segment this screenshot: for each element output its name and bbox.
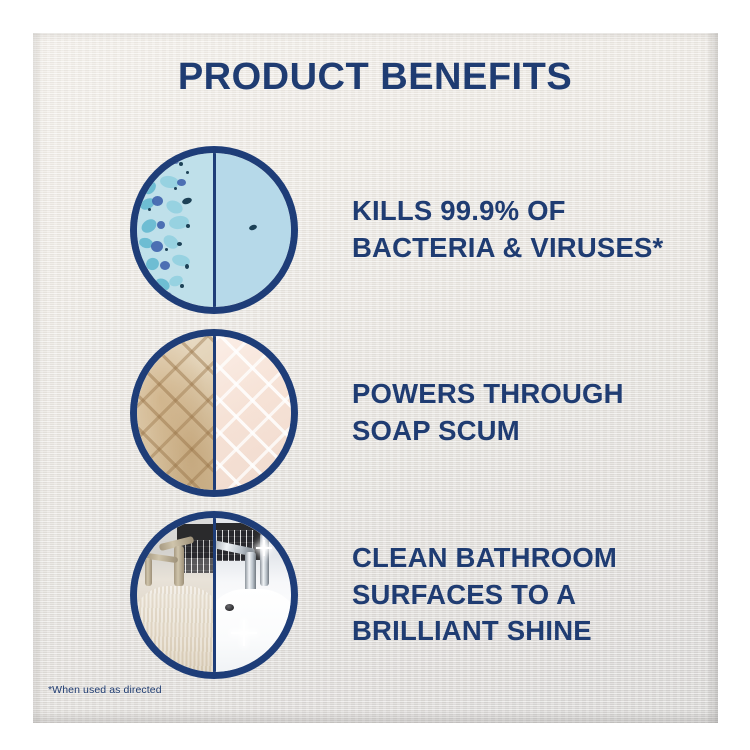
benefit-line: POWERS THROUGH xyxy=(352,376,692,413)
bacteria-circle-divider xyxy=(213,153,216,307)
benefit-line: SOAP SCUM xyxy=(352,413,692,450)
soap-scum-circle-inner xyxy=(137,336,291,490)
product-benefits-infographic: PRODUCT BENEFITS xyxy=(0,0,750,750)
benefit-text-brilliant-shine: CLEAN BATHROOM SURFACES TO A BRILLIANT S… xyxy=(352,511,692,679)
benefit-line: SURFACES TO A xyxy=(352,577,692,614)
page-title: PRODUCT BENEFITS xyxy=(0,56,750,99)
before-after-soap-scum-tile-circle xyxy=(130,329,298,497)
sink-after-half xyxy=(214,518,291,672)
bacteria-circle-inner xyxy=(137,153,291,307)
benefit-text-soap-scum: POWERS THROUGH SOAP SCUM xyxy=(352,329,692,497)
bacteria-after-half xyxy=(214,153,291,307)
sink-basin-clean xyxy=(214,589,291,672)
before-after-bathroom-sink-circle xyxy=(130,511,298,679)
sink-basin-dirty xyxy=(137,586,214,672)
benefit-line: CLEAN BATHROOM xyxy=(352,540,692,577)
sink-circle-inner xyxy=(137,518,291,672)
benefit-text-kills-bacteria: KILLS 99.9% OF BACTERIA & VIRUSES* xyxy=(352,146,692,314)
benefit-line: KILLS 99.9% OF xyxy=(352,193,692,230)
soap-scum-after-half xyxy=(214,336,291,490)
benefit-row-kills-bacteria: KILLS 99.9% OF BACTERIA & VIRUSES* xyxy=(130,146,690,314)
before-after-bacteria-circle xyxy=(130,146,298,314)
bacteria-before-half xyxy=(137,153,214,307)
benefit-line: BRILLIANT SHINE xyxy=(352,613,692,650)
sink-before-half xyxy=(137,518,214,672)
footnote-disclaimer: *When used as directed xyxy=(48,684,162,696)
benefit-row-soap-scum: POWERS THROUGH SOAP SCUM xyxy=(130,329,690,497)
benefit-line: BACTERIA & VIRUSES* xyxy=(352,230,692,267)
benefit-row-brilliant-shine: CLEAN BATHROOM SURFACES TO A BRILLIANT S… xyxy=(130,511,690,679)
soap-scum-circle-divider xyxy=(213,336,216,490)
sink-circle-divider xyxy=(213,518,216,672)
soap-scum-before-half xyxy=(137,336,214,490)
